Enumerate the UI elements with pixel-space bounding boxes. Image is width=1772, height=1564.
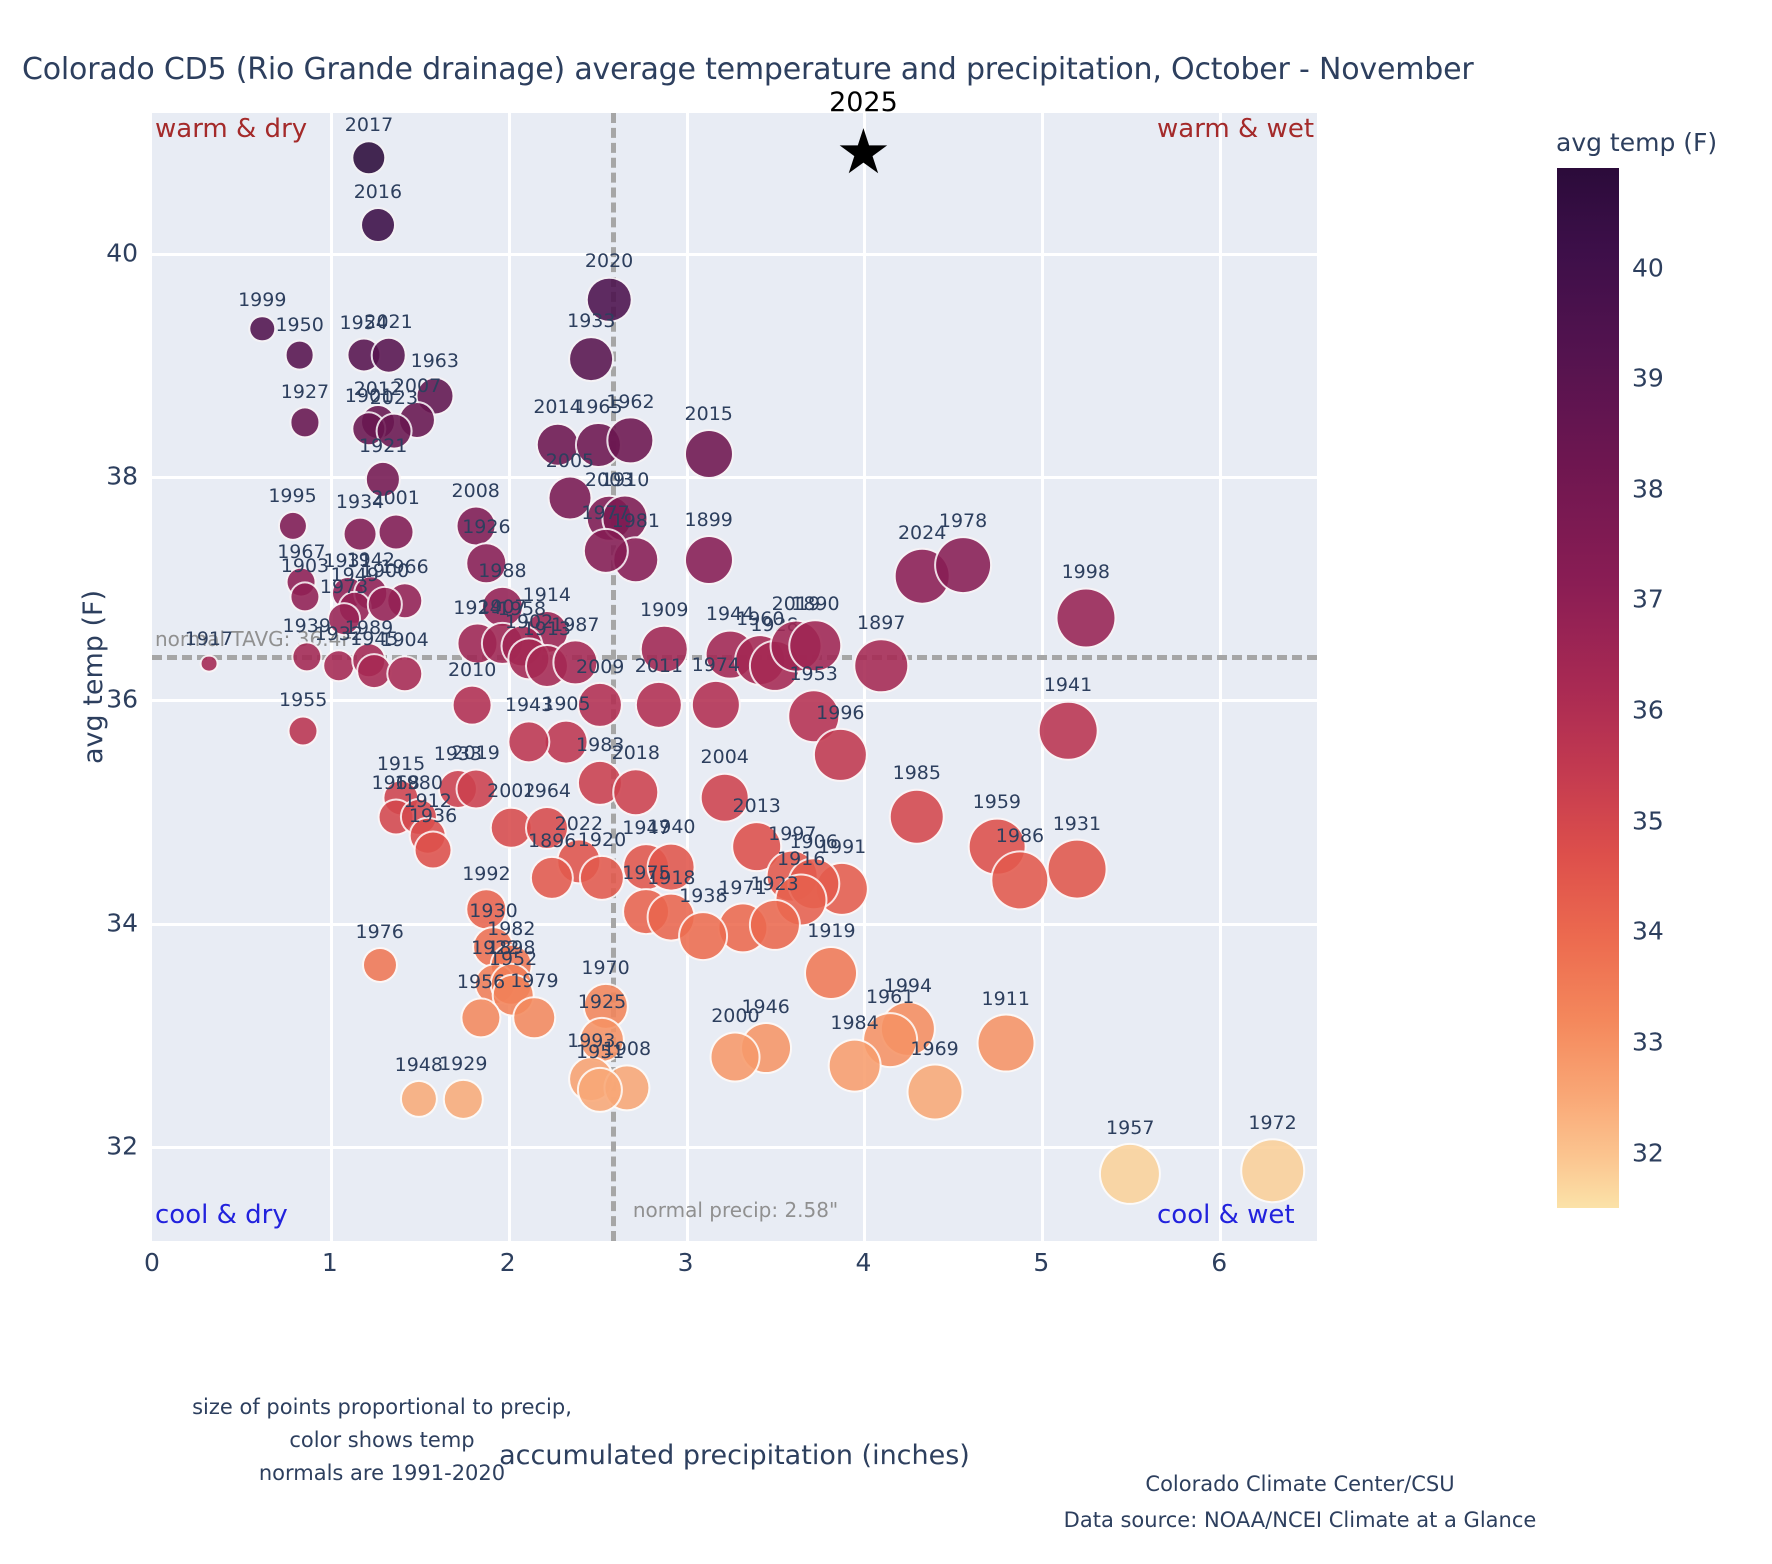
scatter-point-label: 1985: [893, 764, 941, 783]
scatter-point-label: 1974: [692, 656, 740, 675]
scatter-point[interactable]: [362, 947, 398, 983]
scatter-point-label: 1970: [581, 959, 629, 978]
scatter-point-label: 2000: [711, 1007, 759, 1026]
scatter-point[interactable]: [322, 649, 356, 683]
scatter-point[interactable]: [684, 429, 734, 479]
scatter-point-label: 1941: [1044, 676, 1092, 695]
x-axis-tick: 2: [500, 1248, 516, 1277]
scatter-point-label: 1920: [578, 831, 626, 850]
scatter-point-label: 1976: [355, 923, 403, 942]
scatter-point[interactable]: [976, 1014, 1035, 1073]
colorbar-tick: 34: [1632, 917, 1664, 946]
scatter-point-label: 1978: [939, 512, 987, 531]
y-axis-label: avg temp (F): [78, 590, 109, 764]
scatter-point[interactable]: [289, 581, 320, 612]
scatter-point-label: 1996: [816, 704, 864, 723]
scatter-point-label: 1911: [982, 990, 1030, 1009]
scatter-point-label: 2010: [448, 661, 496, 680]
quadrant-label-warm-dry: warm & dry: [155, 114, 307, 144]
scatter-point[interactable]: [906, 1064, 963, 1121]
scatter-point-label: 1963: [411, 352, 459, 371]
scatter-point-label: 1931: [1053, 815, 1101, 834]
scatter-point-label: 1992: [462, 865, 510, 884]
scatter-point-label: 1986: [996, 827, 1044, 846]
scatter-point-label: 1964: [523, 782, 571, 801]
gridline-vertical: [508, 113, 511, 1241]
scatter-point-label: 1929: [439, 1055, 487, 1074]
scatter-point-label: 1927: [281, 383, 329, 402]
colorbar-tick: 39: [1632, 364, 1664, 393]
page-title: Colorado CD5 (Rio Grande drainage) avera…: [22, 52, 1762, 87]
colorbar-tick: 36: [1632, 696, 1664, 725]
scatter-point[interactable]: [1099, 1143, 1161, 1205]
quadrant-label-cool-wet: cool & wet: [1157, 1200, 1295, 1230]
scatter-point-label: 2019: [452, 744, 500, 763]
scatter-point[interactable]: [1038, 700, 1099, 761]
scatter-point[interactable]: [199, 654, 218, 673]
scatter-point-label: 1933: [567, 312, 615, 331]
x-axis-tick: 4: [855, 1248, 871, 1277]
scatter-point[interactable]: [678, 911, 728, 961]
y-axis-tick: 34: [90, 908, 138, 937]
scatter-point-label: 1896: [528, 832, 576, 851]
scatter-point-label: 2013: [733, 797, 781, 816]
x-axis-label: accumulated precipitation (inches): [152, 1440, 1317, 1471]
scatter-point[interactable]: [804, 946, 858, 1000]
scatter-point-label: 1995: [268, 487, 316, 506]
scatter-point[interactable]: [748, 899, 800, 951]
x-axis-tick: 5: [1033, 1248, 1049, 1277]
scatter-point-label: 2021: [364, 313, 412, 332]
colorbar[interactable]: [1557, 168, 1619, 1208]
scatter-point[interactable]: [289, 407, 320, 438]
scatter-point-label: 1952: [489, 950, 537, 969]
scatter-point[interactable]: [1046, 839, 1107, 900]
scatter-point-label: 2004: [701, 748, 749, 767]
scatter-point-label: 1956: [457, 973, 505, 992]
scatter-point-label: 1979: [510, 972, 558, 991]
scatter-point-label: 2001: [371, 489, 419, 508]
colorbar-tick: 38: [1632, 474, 1664, 503]
scatter-point-label: 1910: [601, 471, 649, 490]
scatter-point-label: 1999: [238, 291, 286, 310]
gridline-horizontal: [152, 476, 1317, 479]
scatter-point-label: 2017: [345, 116, 393, 135]
scatter-point-label: 2018: [612, 744, 660, 763]
scatter-point-label: 1943: [505, 696, 553, 715]
gridline-vertical: [1219, 113, 1222, 1241]
scatter-point[interactable]: [577, 1067, 623, 1113]
colorbar-gradient: [1557, 168, 1619, 1208]
scatter-point-label: 1984: [830, 1014, 878, 1033]
normal-precip-label: normal precip: 2.58": [633, 1198, 838, 1222]
scatter-point[interactable]: [1240, 1138, 1306, 1204]
scatter-point-label: 1973: [320, 578, 368, 597]
x-axis-tick: 3: [678, 1248, 694, 1277]
colorbar-title: avg temp (F): [1556, 128, 1717, 157]
scatter-point-label: 1961: [866, 988, 914, 1007]
scatter-point-label: 1936: [409, 807, 457, 826]
scatter-point-label: 2016: [354, 183, 402, 202]
scatter-point-label: 1977: [581, 504, 629, 523]
scatter-point-label: 2009: [576, 658, 624, 677]
scatter-point-label: 1926: [462, 518, 510, 537]
scatter-point-label: 2005: [546, 452, 594, 471]
colorbar-tick: 33: [1632, 1028, 1664, 1057]
quadrant-label-cool-dry: cool & dry: [155, 1200, 288, 1230]
scatter-point-label: 2023: [370, 389, 418, 408]
scatter-point-label: 1987: [551, 616, 599, 635]
scatter-point-label: 1959: [973, 793, 1021, 812]
footnote-size: size of points proportional to precip,: [32, 1395, 732, 1419]
y-axis-tick: 40: [90, 238, 138, 267]
scatter-point[interactable]: [414, 831, 453, 870]
scatter-point[interactable]: [684, 535, 734, 585]
scatter-point[interactable]: [710, 1031, 761, 1082]
colorbar-tick: 40: [1632, 253, 1664, 282]
scatter-point[interactable]: [370, 337, 407, 374]
scatter-point-label: 1917: [185, 630, 233, 649]
scatter-point-label: 1972: [1248, 1114, 1296, 1133]
scatter-point-label: 1909: [640, 601, 688, 620]
scatter-point[interactable]: [377, 513, 414, 550]
scatter-point[interactable]: [513, 996, 557, 1040]
scatter-point-label: 1899: [685, 511, 733, 530]
scatter-point-label: 1919: [807, 922, 855, 941]
x-axis-tick: 6: [1211, 1248, 1227, 1277]
scatter-point[interactable]: [343, 517, 378, 552]
scatter-point[interactable]: [288, 715, 319, 746]
scatter-point-label: 1923: [750, 875, 798, 894]
credit-organization: Colorado Climate Center/CSU: [1020, 1472, 1580, 1496]
scatter-point-label: 1925: [578, 993, 626, 1012]
scatter-point-label: 1890: [791, 595, 839, 614]
star-marker-label: 2025: [829, 87, 898, 118]
scatter-point[interactable]: [284, 340, 315, 371]
y-axis-tick: 38: [90, 461, 138, 490]
scatter-point-label: 1953: [789, 665, 837, 684]
scatter-point-label: 1921: [359, 437, 407, 456]
scatter-point-label: 1948: [395, 1056, 443, 1075]
scatter-point[interactable]: [1055, 587, 1116, 648]
scatter-point-label: 1897: [857, 614, 905, 633]
scatter-point-label: 1950: [275, 316, 323, 335]
colorbar-tick: 37: [1632, 585, 1664, 614]
star-marker[interactable]: ★: [836, 121, 892, 183]
y-axis-tick: 32: [90, 1132, 138, 1161]
scatter-point[interactable]: [827, 1038, 882, 1093]
colorbar-tick: 32: [1632, 1138, 1664, 1167]
scatter-point-label: 1962: [606, 393, 654, 412]
scatter-point[interactable]: [360, 207, 396, 243]
scatter-point-label: 1988: [478, 562, 526, 581]
scatter-point-label: 1998: [1062, 563, 1110, 582]
scatter-point-label: 1969: [910, 1040, 958, 1059]
x-axis-tick: 0: [144, 1248, 160, 1277]
scatter-point-label: 1903: [281, 557, 329, 576]
scatter-point-label: 1957: [1106, 1119, 1154, 1138]
gridline-horizontal: [152, 253, 1317, 256]
scatter-point[interactable]: [568, 336, 614, 382]
scatter-point-label: 2008: [452, 482, 500, 501]
scatter-point-label: 2015: [685, 405, 733, 424]
x-axis-tick: 1: [322, 1248, 338, 1277]
scatter-point-label: 1916: [777, 850, 825, 869]
scatter-point-label: 1938: [679, 887, 727, 906]
scatter-point-label: 1904: [380, 631, 428, 650]
scatter-point-label: 2011: [635, 657, 683, 676]
scatter-point[interactable]: [934, 536, 992, 594]
scatter-point[interactable]: [452, 685, 493, 726]
gridline-vertical: [686, 113, 689, 1241]
colorbar-tick: 35: [1632, 806, 1664, 835]
scatter-point-label: 1940: [647, 818, 695, 837]
scatter-point-label: 2020: [585, 252, 633, 271]
scatter-point-label: 1951: [576, 1043, 624, 1062]
quadrant-label-warm-wet: warm & wet: [1157, 114, 1314, 144]
scatter-point-label: 1955: [279, 691, 327, 710]
credit-datasource: Data source: NOAA/NCEI Climate at a Glan…: [1000, 1508, 1600, 1532]
